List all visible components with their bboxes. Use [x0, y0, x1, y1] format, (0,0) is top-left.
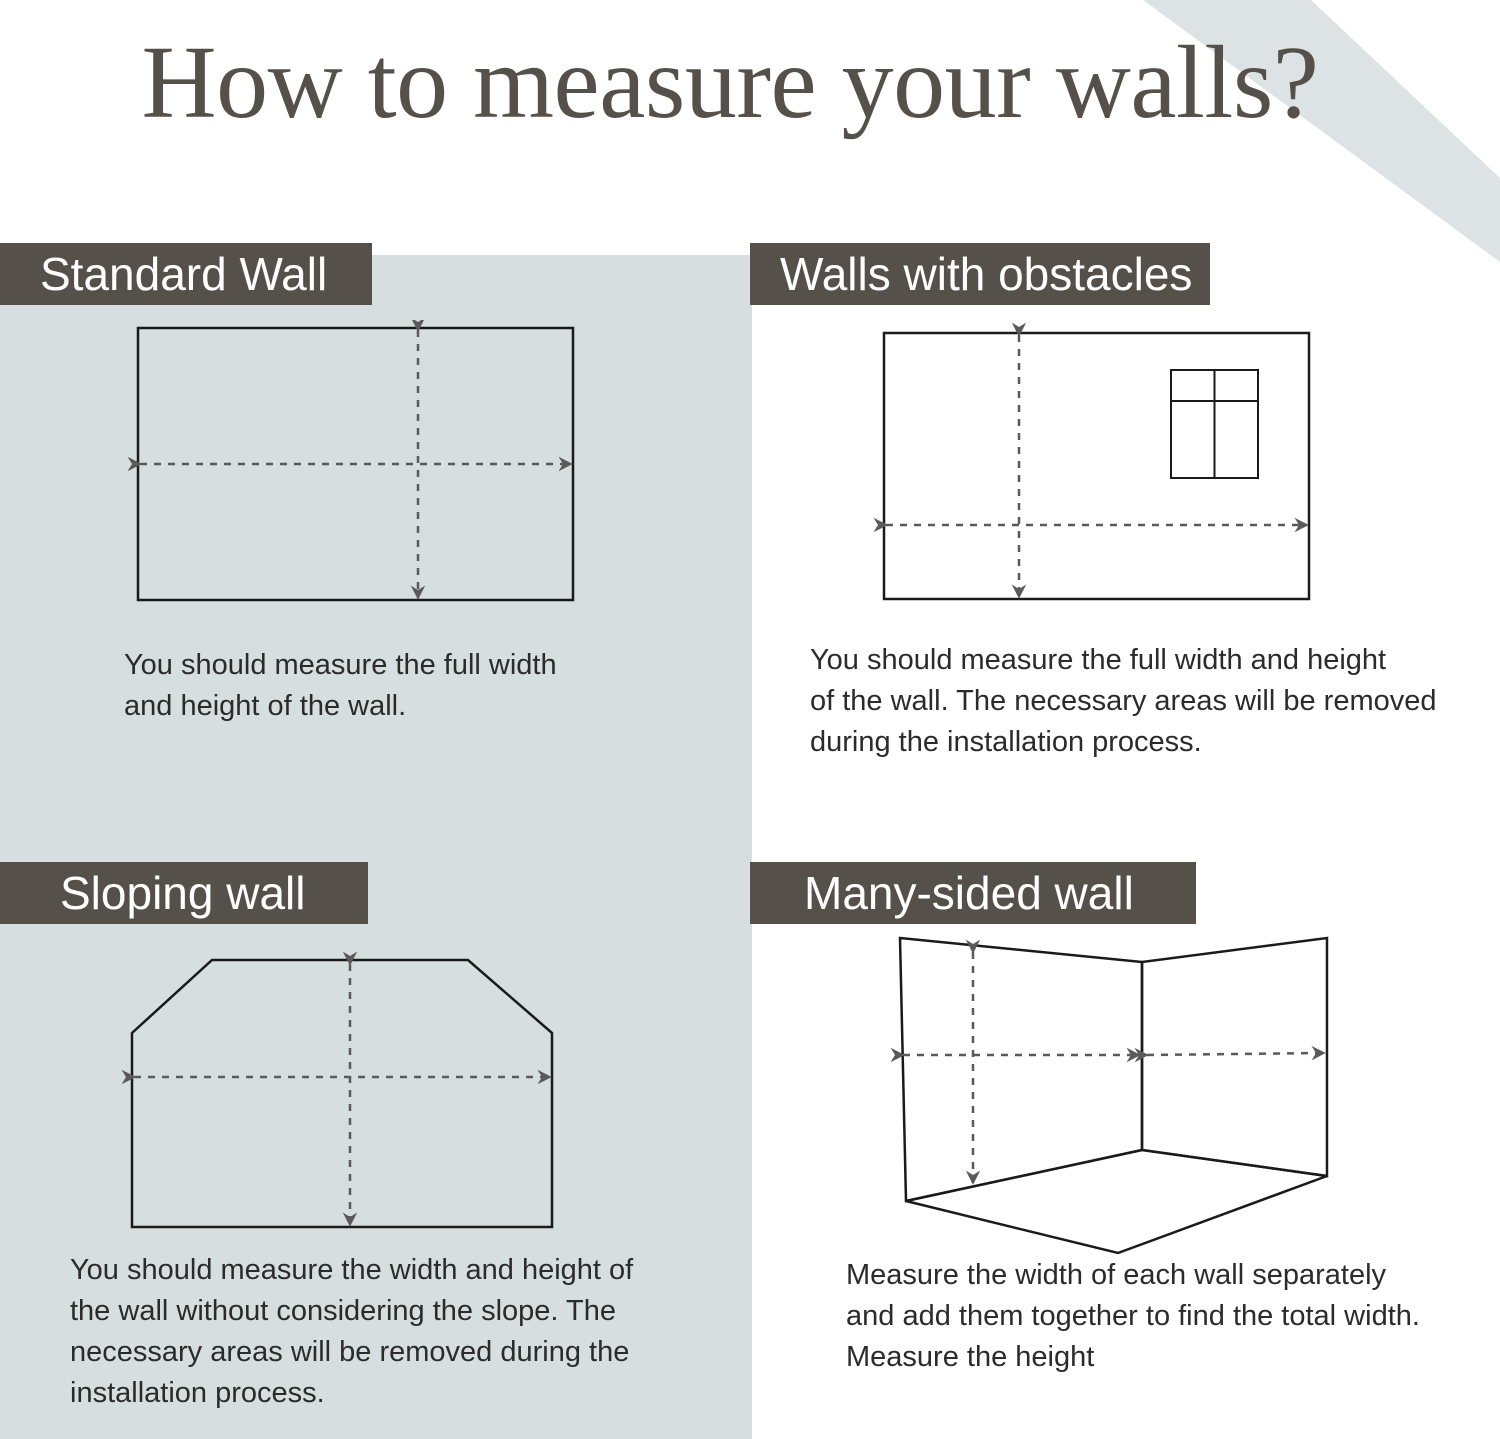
diagram-sloping-wall	[110, 935, 630, 1255]
section-badge-label: Walls with obstacles	[780, 243, 1210, 305]
diagram-many-sided-wall	[870, 920, 1360, 1265]
caption-walls-with-obstacles: You should measure the full width and he…	[810, 640, 1470, 763]
section-badge-label: Many-sided wall	[804, 862, 1196, 924]
section-badge-walls-with-obstacles: Walls with obstacles	[750, 243, 1210, 305]
caption-many-sided-wall: Measure the width of each wall separatel…	[846, 1255, 1486, 1378]
diagram-standard-wall	[110, 320, 630, 620]
section-badge-sloping-wall: Sloping wall	[0, 862, 368, 924]
caption-sloping-wall: You should measure the width and height …	[70, 1250, 690, 1414]
section-badge-standard-wall: Standard Wall	[0, 243, 372, 305]
diagram-walls-with-obstacles	[860, 320, 1340, 620]
section-badge-label: Sloping wall	[60, 862, 368, 924]
section-badge-label: Standard Wall	[40, 243, 372, 305]
section-badge-many-sided-wall: Many-sided wall	[750, 862, 1196, 924]
page-title: How to measure your walls?	[0, 28, 1460, 137]
window-obstacle	[1171, 370, 1258, 478]
caption-standard-wall: You should measure the full width and he…	[124, 645, 644, 727]
